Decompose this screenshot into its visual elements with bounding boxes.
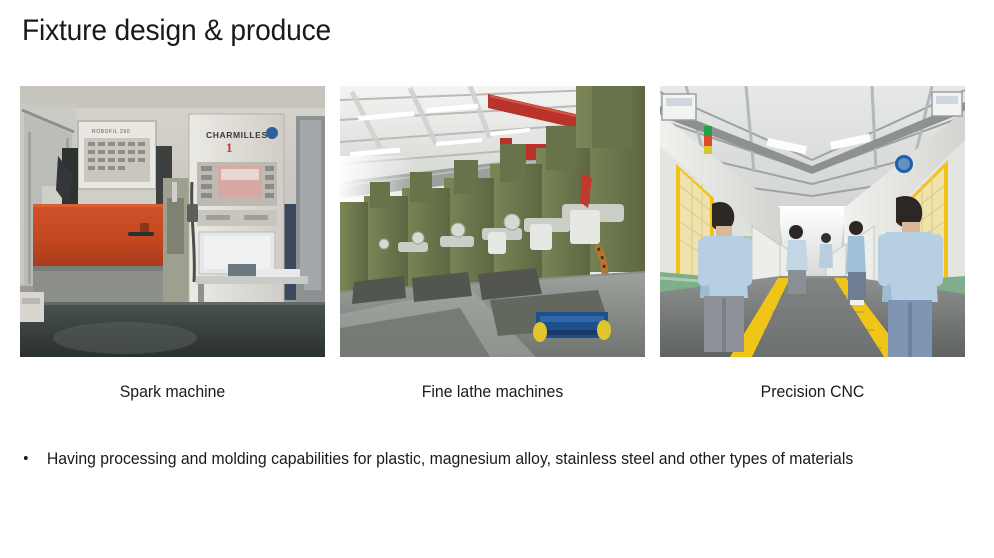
photo-fine-lathe-machines	[340, 86, 645, 357]
svg-text:ROBOFIL 290: ROBOFIL 290	[92, 129, 130, 135]
photo-spark-machine: ROBOFIL 290 CHARMILLES 1	[20, 86, 325, 357]
photo-caption-fine-lathe-machines: Fine lathe machines	[351, 381, 635, 403]
photo-caption-precision-cnc: Precision CNC	[671, 381, 955, 403]
spark-machine-illustration: ROBOFIL 290 CHARMILLES 1	[20, 86, 325, 357]
precision-cnc-illustration	[660, 86, 965, 357]
bullet-text: Having processing and molding capabiliti…	[47, 450, 853, 468]
photo-caption-spark-machine: Spark machine	[31, 381, 315, 403]
bullet-dot-icon	[24, 456, 28, 460]
svg-text:CHARMILLES: CHARMILLES	[206, 130, 268, 140]
photo-precision-cnc	[660, 86, 965, 357]
list-item: Having processing and molding capabiliti…	[22, 440, 882, 478]
bullet-list: Having processing and molding capabiliti…	[22, 440, 922, 478]
svg-text:1: 1	[226, 140, 233, 155]
worker-figure	[819, 233, 833, 268]
fine-lathe-machines-illustration	[340, 86, 645, 357]
page-title: Fixture design & produce	[22, 14, 331, 48]
